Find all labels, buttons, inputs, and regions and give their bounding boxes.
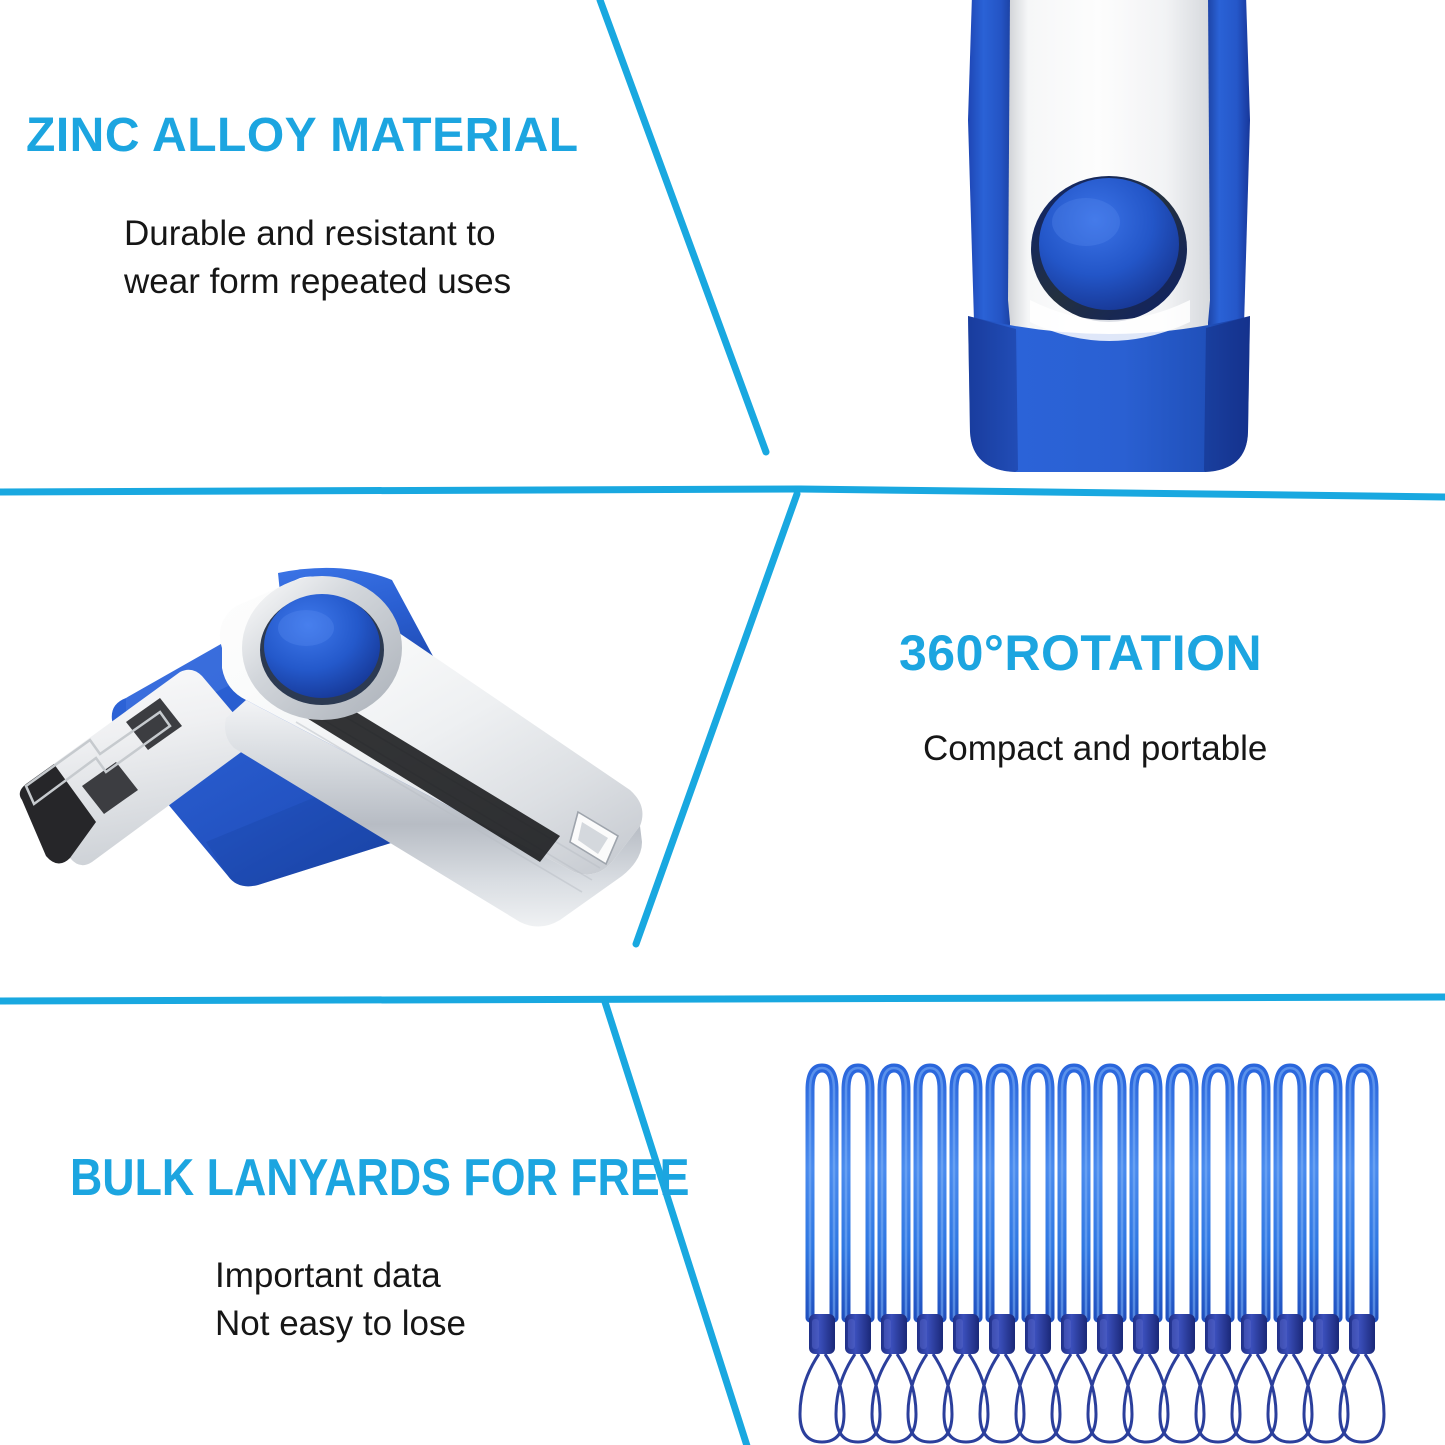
panel-heading-rotation: 360°ROTATION	[899, 628, 1262, 678]
panel-subtext-zinc-alloy: Durable and resistant to wear form repea…	[124, 210, 511, 307]
panel-heading-zinc-alloy: ZINC ALLOY MATERIAL	[26, 112, 579, 160]
divider-horizontal-upper-right	[800, 489, 1445, 497]
divider-diagonal-middle	[636, 494, 797, 944]
panel-heading-lanyards: BULK LANYARDS FOR FREE	[70, 1152, 689, 1204]
divider-horizontal-lower	[0, 997, 1445, 1001]
panel-subtext-lanyards: Important data Not easy to lose	[215, 1252, 466, 1349]
panel-subtext-rotation: Compact and portable	[923, 725, 1267, 773]
divider-diagonal-top	[600, 0, 766, 452]
divider-diagonal-bottom	[605, 1002, 748, 1445]
infographic-canvas: ZINC ALLOY MATERIAL Durable and resistan…	[0, 0, 1445, 1445]
divider-horizontal-upper-left	[0, 489, 800, 492]
